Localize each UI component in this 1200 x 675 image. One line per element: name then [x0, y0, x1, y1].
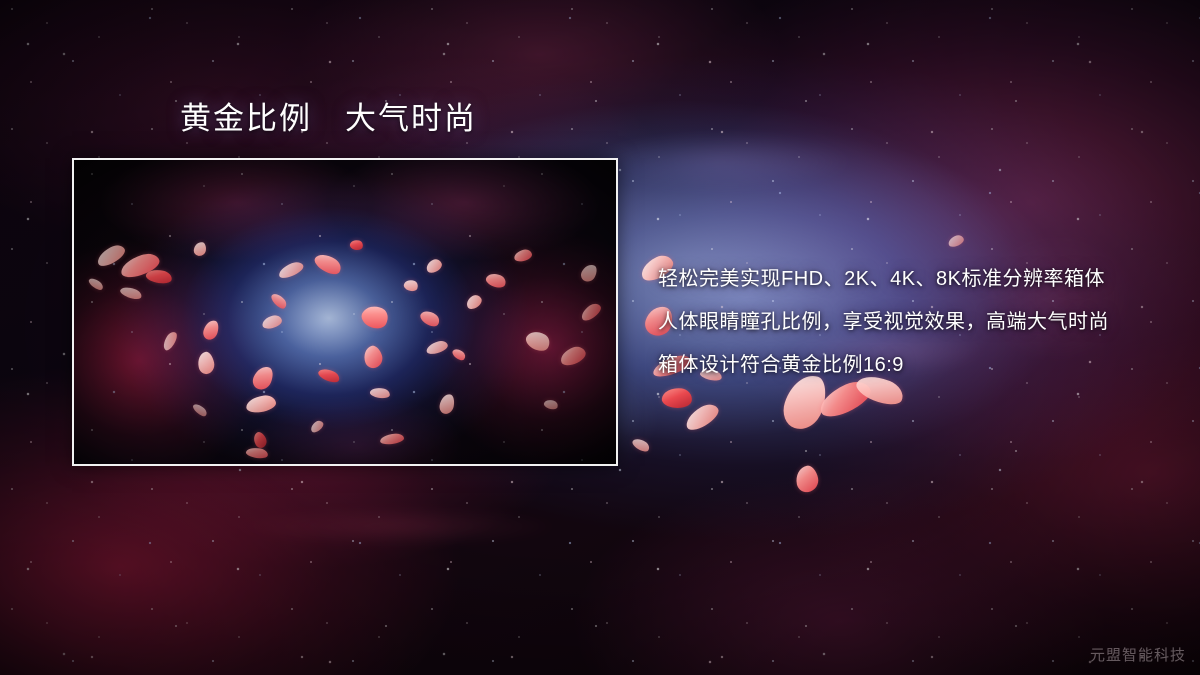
petal	[682, 400, 722, 434]
petal	[947, 234, 965, 249]
preview-panel[interactable]	[72, 158, 618, 466]
preview-vignette	[74, 160, 616, 464]
copy-line-1: 轻松完美实现FHD、2K、4K、8K标准分辨率箱体	[658, 258, 1158, 301]
petal	[631, 436, 652, 454]
petal	[794, 464, 821, 494]
petal	[661, 386, 693, 409]
copy-line-2: 人体眼睛瞳孔比例，享受视觉效果，高端大气时尚	[658, 301, 1158, 344]
presentation-slide: 黄金比例 大气时尚 轻松完美实现FHD、2K、4K、8K标准分辨率箱体 人体眼睛…	[0, 0, 1200, 675]
page-title: 黄金比例 大气时尚	[180, 100, 477, 138]
watermark: 元盟智能科技	[1090, 644, 1186, 665]
body-copy: 轻松完美实现FHD、2K、4K、8K标准分辨率箱体 人体眼睛瞳孔比例，享受视觉效…	[658, 258, 1158, 387]
copy-line-3: 箱体设计符合黄金比例16:9	[658, 344, 1158, 387]
